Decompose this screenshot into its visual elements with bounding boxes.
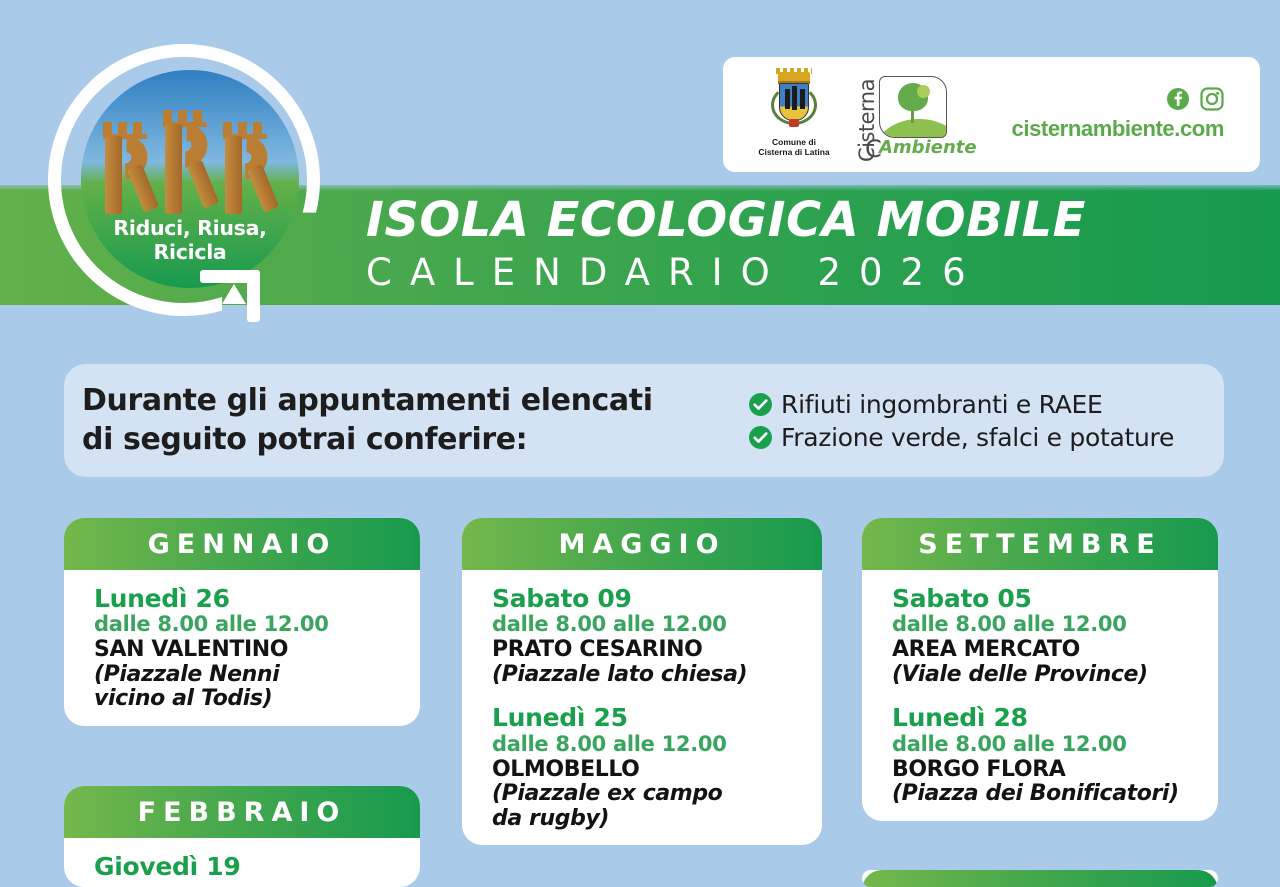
month-events: Lunedì 26 dalle 8.00 alle 12.00 SAN VALE…: [64, 570, 420, 726]
arrow-head: [222, 284, 246, 304]
event-entry: Lunedì 28 dalle 8.00 alle 12.00 BORGO FL…: [892, 705, 1196, 806]
event-place: PRATO CESARINO: [492, 637, 800, 662]
month-title: GENNAIO: [64, 518, 420, 570]
checklist-item: Rifiuti ingombranti e RAEE: [748, 388, 1174, 421]
recycle-arrow-icon: [200, 270, 260, 322]
month-title: FEBBRAIO: [64, 786, 420, 838]
event-entry: Giovedì 19: [94, 854, 398, 880]
info-heading-line1: Durante gli appuntamenti elencati: [82, 382, 742, 420]
website-link[interactable]: cisternambiente.com: [1012, 116, 1224, 142]
comune-crest: Comune di Cisterna di Latina: [757, 72, 831, 157]
page-title: ISOLA ECOLOGICA MOBILE CALENDARIO 2026: [366, 196, 1196, 294]
comune-name-line1: Comune di: [757, 137, 831, 147]
event-time: dalle 8.00 alle 12.00: [892, 612, 1196, 636]
logo-tagline: Riduci, Riusa, Ricicla: [81, 216, 299, 264]
cisterna-ambiente-logo-icon: Cisterna C Ambiente: [853, 71, 957, 159]
header-card: Comune di Cisterna di Latina Cisterna C …: [723, 57, 1260, 172]
crenellation: [103, 122, 147, 135]
header-right-group: cisternambiente.com: [1012, 87, 1224, 142]
event-time: dalle 8.00 alle 12.00: [892, 732, 1196, 756]
logo-frame: [879, 76, 947, 138]
tree-icon: [898, 83, 928, 111]
month-card-next-partial: [862, 870, 1218, 887]
event-address: (Piazzale Nenni: [94, 663, 398, 688]
event-time: dalle 8.00 alle 12.00: [94, 612, 398, 636]
month-card-gennaio: GENNAIO Lunedì 26 dalle 8.00 alle 12.00 …: [64, 518, 420, 726]
instagram-icon[interactable]: [1200, 87, 1224, 111]
event-day: Sabato 09: [492, 586, 800, 612]
event-place: OLMOBELLO: [492, 757, 800, 782]
month-events: Sabato 05 dalle 8.00 alle 12.00 AREA MER…: [862, 570, 1218, 821]
title-main: ISOLA ECOLOGICA MOBILE: [366, 196, 1196, 245]
event-place: AREA MERCATO: [892, 637, 1196, 662]
month-title-partial: [862, 870, 1218, 887]
month-title: SETTEMBRE: [862, 518, 1218, 570]
event-day: Giovedì 19: [94, 854, 398, 880]
arrow-stem: [247, 270, 260, 322]
event-entry: Sabato 05 dalle 8.00 alle 12.00 AREA MER…: [892, 586, 1196, 687]
event-day: Sabato 05: [892, 586, 1196, 612]
rrr-letters: [81, 110, 299, 214]
rrr-letter-2: [161, 110, 219, 214]
event-day: Lunedì 26: [94, 586, 398, 612]
event-entry: Lunedì 25 dalle 8.00 alle 12.00 OLMOBELL…: [492, 705, 800, 831]
company-name-bottom: Ambiente: [879, 137, 977, 158]
info-heading: Durante gli appuntamenti elencati di seg…: [82, 382, 742, 459]
rrr-logo: Riduci, Riusa, Ricicla: [48, 44, 320, 316]
letter-leg: [247, 164, 279, 213]
event-address: (Piazzale ex campo: [492, 782, 800, 807]
info-checklist: Rifiuti ingombranti e RAEE Frazione verd…: [748, 388, 1174, 454]
event-time: dalle 8.00 alle 12.00: [492, 732, 800, 756]
rrr-letter-3: [221, 122, 279, 214]
event-place: BORGO FLORA: [892, 757, 1196, 782]
facebook-icon[interactable]: [1166, 87, 1190, 111]
check-circle-icon: [748, 392, 773, 417]
event-day: Lunedì 25: [492, 705, 800, 731]
event-address: (Viale delle Province): [892, 663, 1196, 688]
event-address: da rugby): [492, 807, 800, 832]
rrr-letter-1: [101, 122, 159, 214]
checklist-label: Frazione verde, sfalci e potature: [781, 421, 1174, 454]
logo-disc: Riduci, Riusa, Ricicla: [81, 70, 299, 288]
info-heading-line2: di seguito potrai conferire:: [82, 421, 742, 459]
event-address: (Piazza dei Bonificatori): [892, 782, 1196, 807]
comune-name: Comune di Cisterna di Latina: [757, 137, 831, 157]
month-card-febbraio: FEBBRAIO Giovedì 19: [64, 786, 420, 887]
check-circle-icon: [748, 425, 773, 450]
month-card-settembre: SETTEMBRE Sabato 05 dalle 8.00 alle 12.0…: [862, 518, 1218, 821]
month-events: Giovedì 19: [64, 838, 420, 887]
title-sub: CALENDARIO 2026: [366, 251, 1196, 294]
event-entry: Lunedì 26 dalle 8.00 alle 12.00 SAN VALE…: [94, 586, 398, 712]
month-card-maggio: MAGGIO Sabato 09 dalle 8.00 alle 12.00 P…: [462, 518, 822, 845]
social-links: [1012, 87, 1224, 111]
letter-leg: [187, 160, 219, 209]
letter-leg: [127, 164, 159, 213]
info-panel: Durante gli appuntamenti elencati di seg…: [64, 364, 1224, 477]
comune-crest-icon: [770, 72, 818, 134]
month-title: MAGGIO: [462, 518, 822, 570]
crenellation: [223, 122, 267, 135]
event-day: Lunedì 28: [892, 705, 1196, 731]
month-events: Sabato 09 dalle 8.00 alle 12.00 PRATO CE…: [462, 570, 822, 845]
event-entry: Sabato 09 dalle 8.00 alle 12.00 PRATO CE…: [492, 586, 800, 687]
checklist-label: Rifiuti ingombranti e RAEE: [781, 388, 1103, 421]
comune-name-line2: Cisterna di Latina: [757, 147, 831, 157]
laurel-knot: [789, 119, 799, 127]
event-time: dalle 8.00 alle 12.00: [492, 612, 800, 636]
crenellation: [163, 110, 207, 123]
event-place: SAN VALENTINO: [94, 637, 398, 662]
checklist-item: Frazione verde, sfalci e potature: [748, 421, 1174, 454]
event-address: (Piazzale lato chiesa): [492, 663, 800, 688]
event-address: vicino al Todis): [94, 687, 398, 712]
